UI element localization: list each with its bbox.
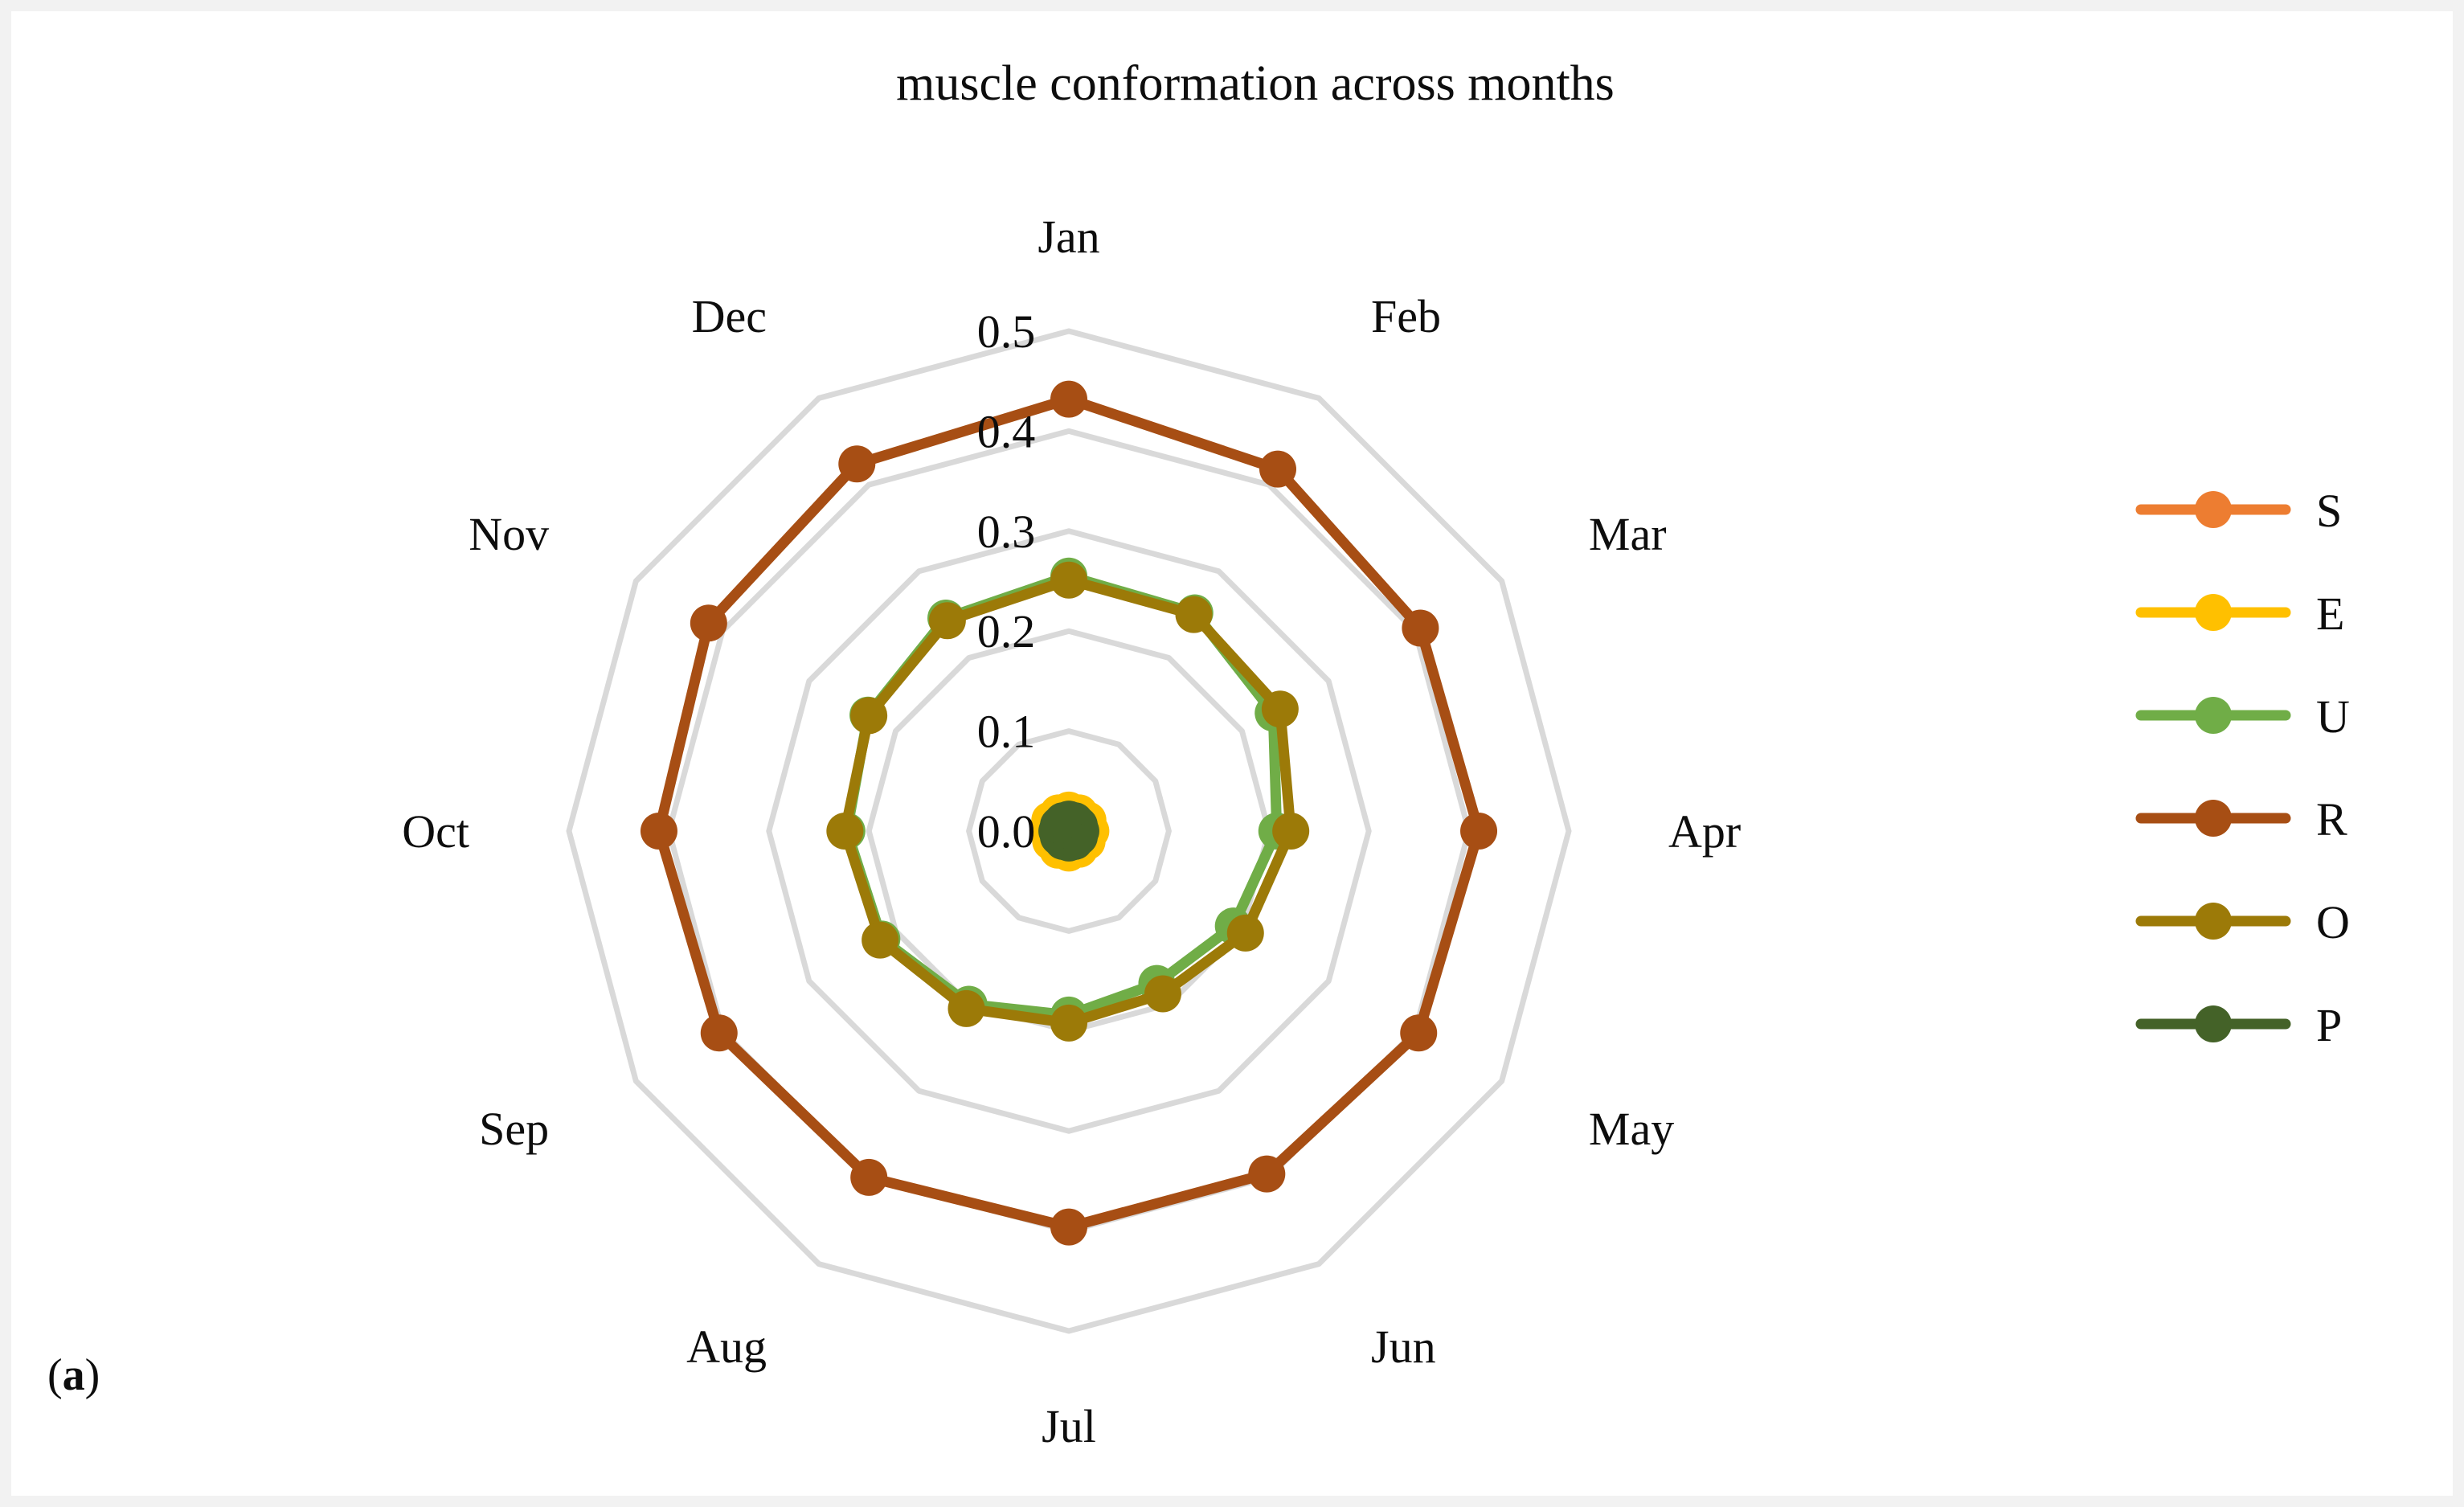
radar-chart: muscle conformation across months 0.00.1… bbox=[11, 11, 2453, 1496]
series-marker-R-Oct bbox=[641, 813, 677, 850]
series-marker-R-May bbox=[1400, 1014, 1437, 1051]
series-marker-R-Apr bbox=[1460, 813, 1497, 850]
legend-swatch-marker-R bbox=[2195, 800, 2232, 837]
series-marker-P-Dec bbox=[1045, 802, 1082, 839]
figure-card: muscle conformation across months 0.00.1… bbox=[11, 11, 2453, 1496]
panel-label: (a) bbox=[47, 1350, 100, 1400]
series-marker-O-Nov bbox=[850, 697, 887, 734]
series-marker-R-Nov bbox=[690, 604, 727, 641]
legend-swatch-marker-E bbox=[2195, 594, 2232, 631]
series-marker-O-Feb bbox=[1176, 596, 1213, 633]
radial-tick-0.2: 0.2 bbox=[977, 605, 1036, 657]
legend-item-R[interactable]: R bbox=[2141, 793, 2347, 846]
series-marker-R-Jun bbox=[1248, 1156, 1285, 1193]
legend-item-U[interactable]: U bbox=[2141, 690, 2350, 743]
axis-label-nov[interactable]: Nov bbox=[469, 508, 549, 560]
series-marker-O-Jun bbox=[1144, 976, 1181, 1013]
legend-swatch-marker-U bbox=[2195, 697, 2232, 734]
legend-swatch-marker-S bbox=[2195, 491, 2232, 528]
legend-item-O[interactable]: O bbox=[2141, 896, 2350, 948]
axis-label-jul[interactable]: Jul bbox=[1042, 1400, 1096, 1452]
axis-label-mar[interactable]: Mar bbox=[1589, 508, 1667, 560]
series-marker-O-Jan bbox=[1050, 562, 1087, 599]
radial-tick-0.3: 0.3 bbox=[977, 506, 1036, 558]
axis-label-jan[interactable]: Jan bbox=[1038, 211, 1099, 263]
axis-label-jun[interactable]: Jun bbox=[1371, 1321, 1436, 1373]
legend-label-U: U bbox=[2316, 690, 2350, 743]
series-marker-O-Apr bbox=[1272, 813, 1309, 850]
series-marker-O-Sep bbox=[862, 922, 898, 959]
legend-swatch-marker-P bbox=[2195, 1005, 2232, 1042]
series-marker-R-Aug bbox=[850, 1159, 887, 1196]
radar-series-group bbox=[641, 381, 1497, 1246]
radial-tick-0.4: 0.4 bbox=[977, 405, 1036, 457]
series-marker-R-Mar bbox=[1402, 609, 1439, 646]
axis-label-aug[interactable]: Aug bbox=[686, 1321, 767, 1373]
legend-label-O: O bbox=[2316, 896, 2350, 948]
radial-tick-0.1: 0.1 bbox=[977, 706, 1036, 758]
series-marker-O-Mar bbox=[1262, 690, 1299, 727]
chart-title: muscle conformation across months bbox=[896, 56, 1615, 111]
legend-item-E[interactable]: E bbox=[2141, 588, 2344, 640]
legend-label-S: S bbox=[2316, 485, 2342, 537]
legend-label-E: E bbox=[2316, 588, 2344, 640]
legend-label-P: P bbox=[2316, 999, 2342, 1051]
axis-label-dec[interactable]: Dec bbox=[692, 290, 767, 342]
series-marker-R-Jul bbox=[1050, 1209, 1087, 1246]
axis-label-feb[interactable]: Feb bbox=[1371, 290, 1441, 342]
radial-tick-0.5: 0.5 bbox=[977, 305, 1036, 358]
series-marker-R-Dec bbox=[838, 445, 875, 482]
series-marker-O-Dec bbox=[929, 602, 966, 639]
axis-label-oct[interactable]: Oct bbox=[402, 805, 469, 858]
series-marker-O-May bbox=[1227, 915, 1264, 952]
series-marker-R-Feb bbox=[1259, 451, 1296, 488]
series-marker-O-Jul bbox=[1050, 1005, 1087, 1042]
legend-item-S[interactable]: S bbox=[2141, 485, 2342, 537]
legend-label-R: R bbox=[2316, 793, 2347, 846]
chart-legend: SEUROP bbox=[2141, 485, 2350, 1051]
series-marker-R-Jan bbox=[1050, 381, 1087, 418]
series-marker-O-Oct bbox=[826, 813, 863, 850]
series-marker-O-Aug bbox=[948, 990, 984, 1027]
legend-swatch-marker-O bbox=[2195, 903, 2232, 940]
series-marker-R-Sep bbox=[701, 1014, 738, 1051]
axis-label-may[interactable]: May bbox=[1589, 1103, 1674, 1155]
axis-label-apr[interactable]: Apr bbox=[1668, 805, 1741, 858]
axis-label-sep[interactable]: Sep bbox=[479, 1103, 549, 1155]
figure-page: muscle conformation across months 0.00.1… bbox=[0, 0, 2464, 1507]
legend-item-P[interactable]: P bbox=[2141, 999, 2342, 1051]
radial-tick-0.0: 0.0 bbox=[977, 805, 1036, 858]
